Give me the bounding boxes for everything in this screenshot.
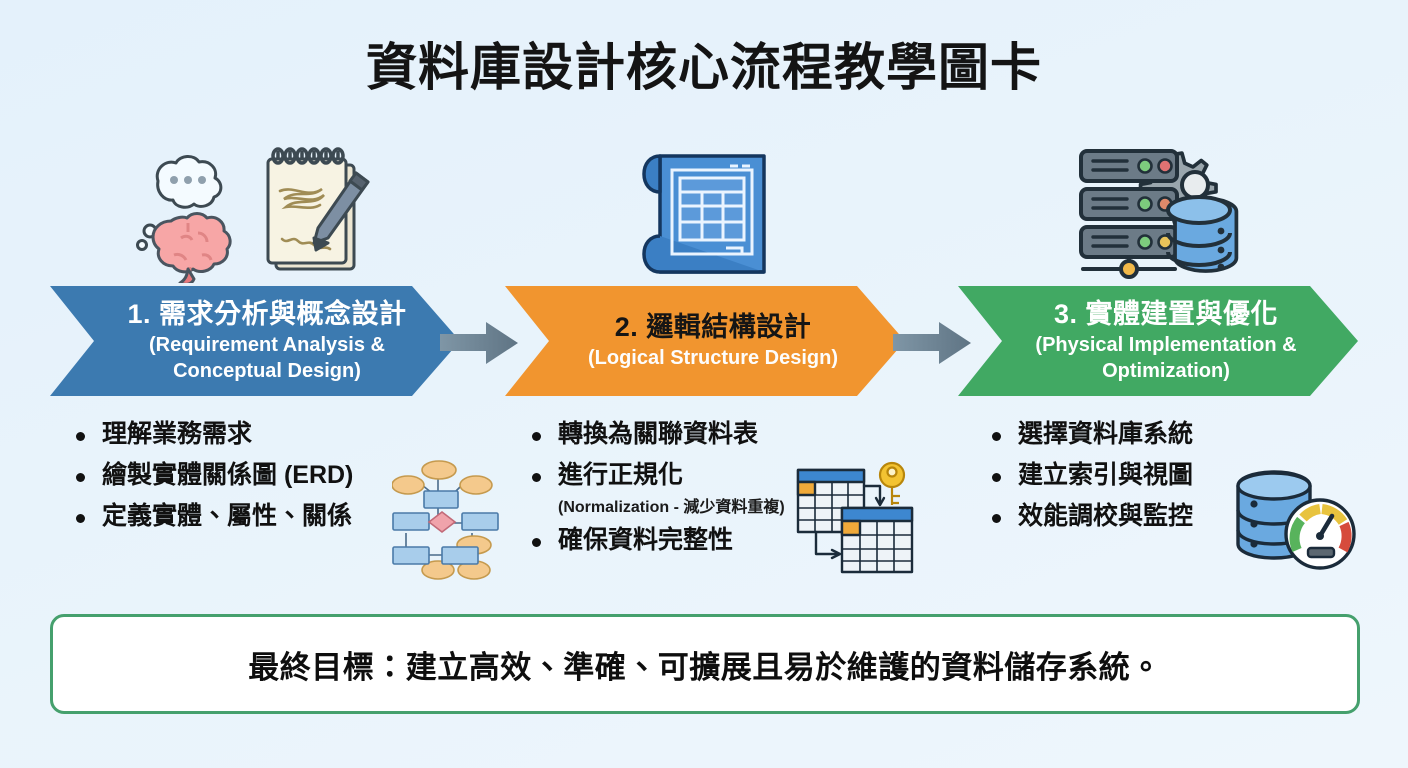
page-title: 資料庫設計核心流程教學圖卡 — [0, 26, 1408, 100]
database-gauge-icon — [1232, 466, 1358, 577]
database-cylinder-icon — [1168, 197, 1236, 271]
step-1-icon-row — [50, 140, 450, 288]
column-step-1 — [50, 140, 450, 288]
linked-tables-key-icon — [794, 458, 916, 583]
final-goal-text: 最終目標：建立高效、準確、可擴展且易於維護的資料儲存系統。 — [248, 642, 1162, 687]
brain-thought-bubble-icon — [124, 143, 244, 288]
step-3-subtitle-line2: Optimization) — [1102, 360, 1230, 383]
column-step-3 — [958, 140, 1358, 288]
blueprint-table-icon — [630, 148, 780, 288]
step-2-icon-row — [505, 140, 905, 288]
list-item: 理解業務需求 — [72, 418, 452, 450]
step-2-heading: 2. 邏輯結構設計 — [615, 312, 812, 344]
column-step-2 — [505, 140, 905, 288]
step-2-banner[interactable]: 2. 邏輯結構設計 (Logical Structure Design) — [505, 286, 905, 396]
arrow-step1-to-step2-icon — [440, 320, 520, 371]
step-3-banner[interactable]: 3. 實體建置與優化 (Physical Implementation & Op… — [958, 286, 1358, 396]
list-item: 轉換為關聯資料表 — [528, 418, 858, 450]
final-goal-box: 最終目標：建立高效、準確、可擴展且易於維護的資料儲存系統。 — [50, 614, 1360, 714]
step-1-subtitle-line2: Conceptual Design) — [173, 360, 361, 383]
step-1-banner[interactable]: 1. 需求分析與概念設計 (Requirement Analysis & Con… — [50, 286, 460, 396]
step-2-subtitle-line1: (Logical Structure Design) — [588, 347, 838, 370]
server-gear-database-icon — [1073, 143, 1243, 288]
step-3-subtitle-line1: (Physical Implementation & — [1035, 334, 1296, 357]
erd-diagram-icon — [392, 455, 502, 585]
arrow-step2-to-step3-icon — [893, 320, 973, 371]
step-1-heading: 1. 需求分析與概念設計 — [127, 299, 406, 331]
list-item: 選擇資料庫系統 — [988, 418, 1288, 450]
step-1-subtitle-line1: (Requirement Analysis & — [149, 334, 385, 357]
step-3-heading: 3. 實體建置與優化 — [1054, 299, 1278, 331]
notepad-pen-icon — [258, 143, 376, 288]
step-3-icon-row — [958, 140, 1358, 288]
